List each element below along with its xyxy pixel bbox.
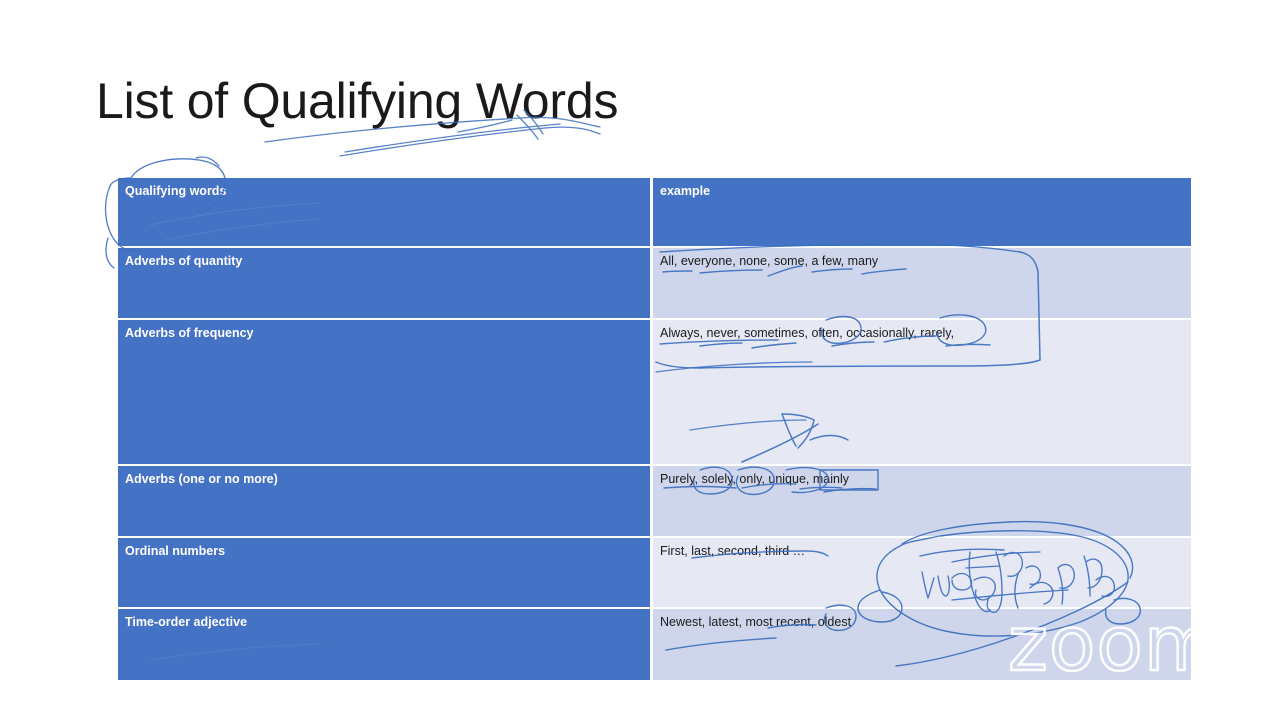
row-example: All, everyone, none, some, a few, many [652, 248, 1191, 269]
header-label-qualifying-words: Qualifying words [118, 178, 652, 199]
table-header-cell-term: Qualifying words [118, 178, 652, 248]
row-label: Adverbs of quantity [118, 248, 652, 269]
row-example: Purely, solely, only, unique, mainly [652, 466, 1191, 487]
table-cell-example: All, everyone, none, some, a few, many [652, 248, 1191, 320]
presentation-slide: List of Qualifying Words Qualifying word… [0, 0, 1280, 720]
header-label-example: example [652, 178, 1191, 199]
row-label: Adverbs (one or no more) [118, 466, 652, 487]
table-row: Adverbs (one or no more) Purely, solely,… [118, 466, 1191, 538]
table-cell-example: Always, never, sometimes, often, occasio… [652, 320, 1191, 466]
table-cell-term: Time-order adjective [118, 609, 652, 680]
table-header-row: Qualifying words example [118, 178, 1191, 248]
table-column-divider [650, 178, 653, 680]
table-row: Adverbs of quantity All, everyone, none,… [118, 248, 1191, 320]
row-label: Time-order adjective [118, 609, 652, 630]
row-example: Always, never, sometimes, often, occasio… [652, 320, 1191, 341]
zoom-watermark: zoom [1008, 606, 1219, 682]
page-title: List of Qualifying Words [96, 74, 618, 129]
table-cell-term: Ordinal numbers [118, 538, 652, 609]
row-label: Ordinal numbers [118, 538, 652, 559]
table-cell-example: Purely, solely, only, unique, mainly [652, 466, 1191, 538]
table-cell-term: Adverbs (one or no more) [118, 466, 652, 538]
table-header-cell-example: example [652, 178, 1191, 248]
row-label: Adverbs of frequency [118, 320, 652, 341]
table-cell-term: Adverbs of frequency [118, 320, 652, 466]
table-cell-term: Adverbs of quantity [118, 248, 652, 320]
table-row: Adverbs of frequency Always, never, some… [118, 320, 1191, 466]
row-example: First, last, second, third … [652, 538, 1191, 559]
